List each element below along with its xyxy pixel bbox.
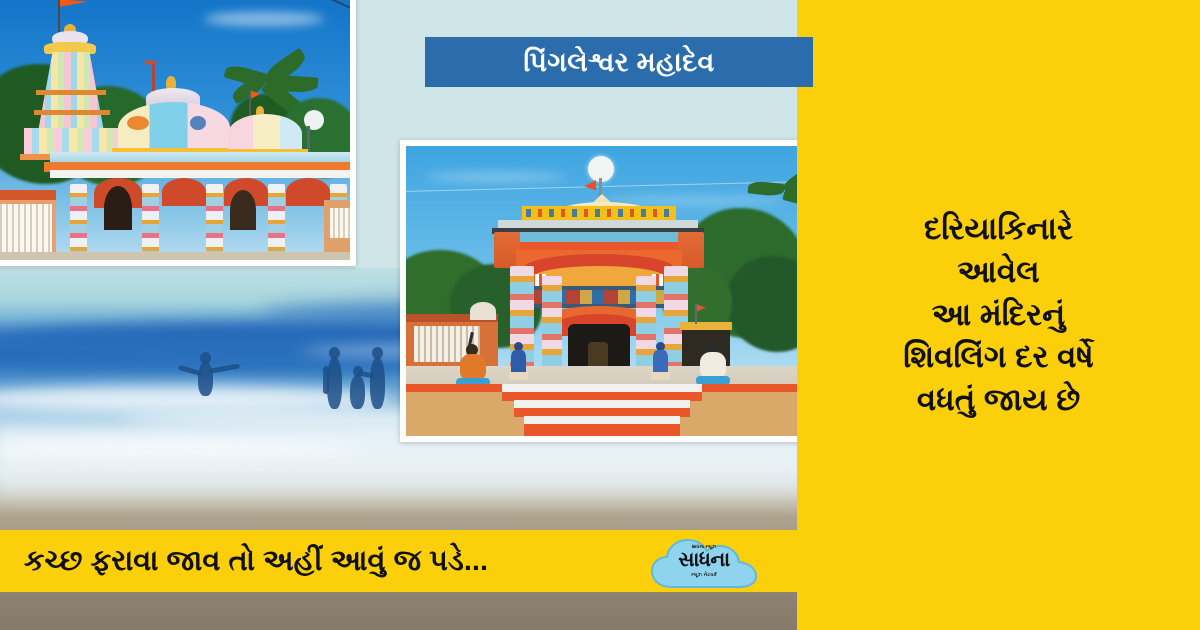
headline-line-2: આવેલ [957,251,1039,294]
caption-text: કચ્છ ફરાવા જાવ તો અહીં આવું જ પડે... [24,547,488,576]
wet-sand-sheen [0,430,800,510]
dry-sand-strip [0,592,800,630]
poster-canvas: કચ્છ ફરાવા જાવ તો અહીં આવું જ પડે... પિં… [0,0,1200,630]
temple-photo-top-left [0,0,356,266]
logo-main-text: સાધના [650,550,758,570]
headline-line-5: વધતું જાય છે [917,379,1080,422]
temple-photo-center [400,140,800,442]
right-text-panel: દરિયાકિનારે આવેલ આ મંદિરનું શિવલિંગ દર વ… [797,0,1200,630]
headline-line-4: શિવલિંગ દર વર્ષે [903,336,1094,379]
jali-screen [0,204,52,252]
title-text: પિંગલેશ્વર મહાદેવ [523,49,714,76]
headline-line-3: આ મંદિરનું [932,294,1065,337]
headline-line-1: દરિયાકિનારે [924,208,1073,251]
sadhana-logo[interactable]: સાધના ન્યૂઝ સાધના ન્યૂઝ નેટવર્ક [650,535,758,591]
title-banner: પિંગલેશ્વર મહાદેવ [425,37,813,87]
logo-sub-text: ન્યૂઝ નેટવર્ક [650,572,758,577]
